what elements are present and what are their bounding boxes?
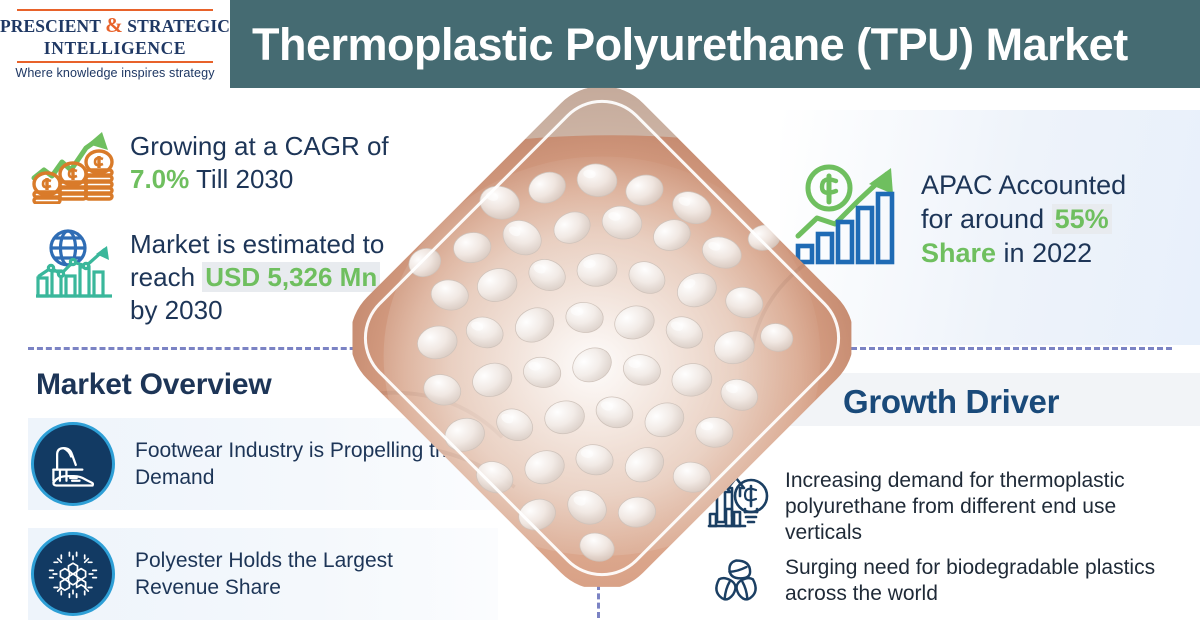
logo-line-2: INTELLIGENCE <box>44 38 186 59</box>
market-overview-item-2: Polyester Holds the Largest Revenue Shar… <box>28 528 498 620</box>
growth-driver-item-2-text: Surging need for biodegradable plastics … <box>785 553 1185 607</box>
stat-apac-percent: 55% <box>1052 204 1112 234</box>
stat-market-line3: by 2030 <box>130 295 223 325</box>
polymer-hexagon-icon <box>31 532 115 616</box>
logo-line-1: PRESCIENT & STRATEGIC <box>0 13 230 38</box>
stat-cagr-value: 7.0% <box>130 164 189 194</box>
logo-tagline: Where knowledge inspires strategy <box>15 66 214 80</box>
company-logo: PRESCIENT & STRATEGIC INTELLIGENCE Where… <box>0 0 230 88</box>
diamond-mask <box>326 62 878 614</box>
stat-apac-line1: APAC Accounted <box>921 170 1126 200</box>
logo-rule-bottom <box>17 61 213 63</box>
stat-market-line2-prefix: reach <box>130 262 202 292</box>
recycle-leaves-icon <box>705 553 771 619</box>
growth-driver-item-2: Surging need for biodegradable plastics … <box>705 553 1185 619</box>
stat-apac-line3: in 2022 <box>996 238 1092 268</box>
market-overview-item-2-text: Polyester Holds the Largest Revenue Shar… <box>135 547 475 601</box>
stat-market-value: USD 5,326 Mn <box>202 262 380 292</box>
stat-market-size-text: Market is estimated to reach USD 5,326 M… <box>130 224 384 327</box>
logo-line1-b: STRATEGIC <box>123 16 230 36</box>
stat-cagr-line2: Till 2030 <box>189 164 293 194</box>
logo-ampersand: & <box>105 13 123 37</box>
footwear-icon <box>31 422 115 506</box>
center-image-frame <box>407 143 797 533</box>
dollar-bar-chart-arrow-icon <box>795 160 907 270</box>
logo-line1-a: PRESCIENT <box>0 16 105 36</box>
stat-market-line1: Market is estimated to <box>130 229 384 259</box>
stat-apac-line2-prefix: for around <box>921 204 1052 234</box>
stat-cagr-text: Growing at a CAGR of 7.0% Till 2030 <box>130 126 389 196</box>
stat-apac-share: APAC Accounted for around 55% Share in 2… <box>795 160 1195 270</box>
market-overview-title: Market Overview <box>36 368 271 402</box>
tpu-pellets-in-hand-photo <box>352 88 851 587</box>
page-title: Thermoplastic Polyurethane (TPU) Market <box>252 14 1192 76</box>
growth-driver-title: Growth Driver <box>843 383 1059 421</box>
infographic-canvas: PRESCIENT & STRATEGIC INTELLIGENCE Where… <box>0 0 1200 628</box>
stat-apac-share-word: Share <box>921 238 996 268</box>
stat-cagr: Growing at a CAGR of 7.0% Till 2030 <box>28 126 428 204</box>
stat-cagr-line1: Growing at a CAGR of <box>130 131 389 161</box>
logo-rule-top <box>17 9 213 11</box>
growth-driver-item-1-text: Increasing demand for thermoplastic poly… <box>785 466 1185 546</box>
stat-apac-text: APAC Accounted for around 55% Share in 2… <box>921 160 1126 270</box>
globe-bar-chart-icon <box>28 224 116 302</box>
coin-stacks-growth-icon <box>28 126 116 204</box>
